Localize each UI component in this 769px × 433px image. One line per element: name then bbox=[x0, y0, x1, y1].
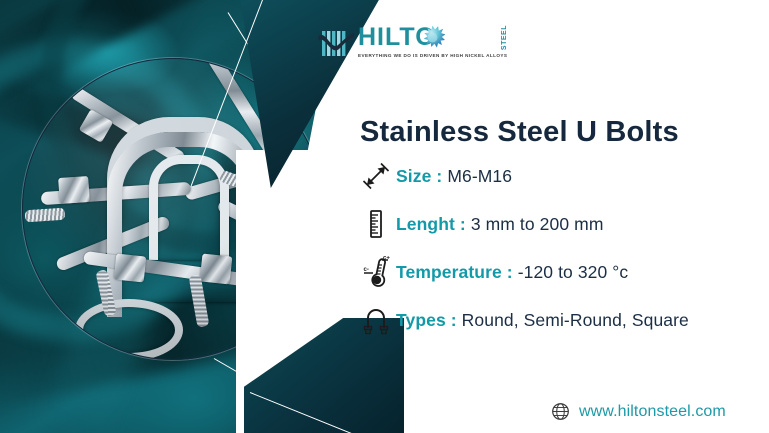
website-url: www.hiltonsteel.com bbox=[579, 403, 726, 421]
spec-row-size: Size : M6-M16 bbox=[356, 152, 766, 200]
ruler-icon bbox=[356, 204, 396, 244]
brand-logo[interactable]: HILTON STEEL EVERYTHING WE DO IS DRIVEN … bbox=[318, 22, 503, 68]
spec-label: Temperature : bbox=[396, 262, 513, 283]
wave-bars-logo-icon bbox=[318, 26, 354, 60]
spec-text: Size : M6-M16 bbox=[396, 166, 512, 187]
spec-value: Round, Semi-Round, Square bbox=[462, 310, 689, 331]
spec-row-temperature: c- c+ Temperature : -120 to 320 °c bbox=[356, 248, 766, 296]
spec-label: Types : bbox=[396, 310, 457, 331]
spec-label: Size : bbox=[396, 166, 442, 187]
page-title: Stainless Steel U Bolts bbox=[360, 116, 679, 149]
logo-wordmark: HILTON STEEL EVERYTHING WE DO IS DRIVEN … bbox=[358, 22, 508, 68]
spec-row-length: Lenght : 3 mm to 200 mm bbox=[356, 200, 766, 248]
thermometer-hot-label: c+ bbox=[383, 256, 390, 262]
logo-tagline: EVERYTHING WE DO IS DRIVEN BY HIGH NICKE… bbox=[358, 53, 507, 58]
spec-text: Types : Round, Semi-Round, Square bbox=[396, 310, 689, 331]
u-bolt-icon bbox=[356, 300, 396, 340]
spec-value: 3 mm to 200 mm bbox=[471, 214, 604, 235]
product-banner: HILTON STEEL EVERYTHING WE DO IS DRIVEN … bbox=[0, 0, 769, 433]
logo-text-steel: STEEL bbox=[500, 25, 509, 50]
globe-icon bbox=[551, 402, 570, 421]
spec-value: -120 to 320 °c bbox=[518, 262, 629, 283]
thermometer-icon: c- c+ bbox=[356, 252, 396, 292]
spec-row-types: Types : Round, Semi-Round, Square bbox=[356, 296, 766, 344]
spec-text: Temperature : -120 to 320 °c bbox=[396, 262, 628, 283]
spec-list: Size : M6-M16 Lenght : 3 mm to bbox=[356, 152, 766, 344]
spiky-burst-o-icon bbox=[420, 25, 445, 50]
dimension-arrow-icon bbox=[356, 156, 396, 196]
thermometer-cold-label: c- bbox=[364, 267, 369, 273]
spec-value: M6-M16 bbox=[447, 166, 512, 187]
website-link[interactable]: www.hiltonsteel.com bbox=[551, 402, 726, 421]
spec-text: Lenght : 3 mm to 200 mm bbox=[396, 214, 604, 235]
spec-label: Lenght : bbox=[396, 214, 466, 235]
